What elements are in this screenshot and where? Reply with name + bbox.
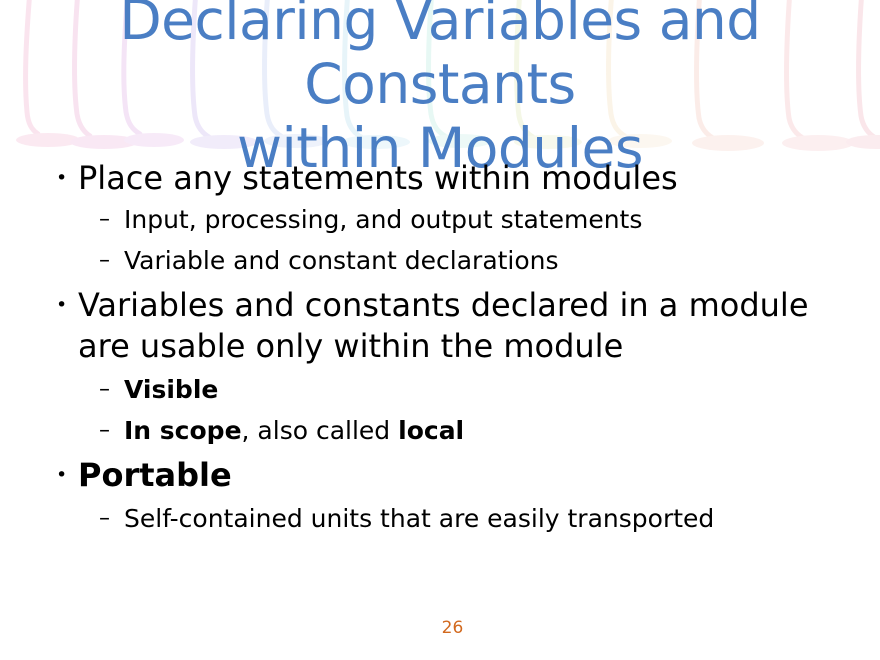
bullet-item: • Portable: [50, 455, 865, 496]
bullet-marker-dot: •: [50, 285, 78, 326]
bullet-text: Place any statements within modules: [78, 158, 865, 199]
sub-bullet-text: Visible: [124, 369, 865, 410]
slide: Declaring Variables and Constants within…: [0, 0, 880, 660]
bullet-marker-dot: •: [50, 455, 78, 496]
sub-bullet-text: Self-contained units that are easily tra…: [124, 498, 865, 539]
bullet-text: Variables and constants declared in a mo…: [78, 285, 865, 367]
title-line-1: Declaring Variables and: [0, 0, 880, 52]
bullet-marker-dot: •: [50, 158, 78, 199]
sub-bullet-item: – Self-contained units that are easily t…: [50, 498, 865, 539]
sub-bullet-item: – Visible: [50, 369, 865, 410]
sub-bullet-item: – Input, processing, and output statemen…: [50, 199, 865, 240]
sub-bullet-segment: In scope: [124, 416, 242, 445]
bullet-marker-dash: –: [50, 199, 124, 240]
bullet-marker-dash: –: [50, 498, 124, 539]
bullet-marker-dash: –: [50, 410, 124, 451]
bullet-item: • Place any statements within modules: [50, 158, 865, 199]
sub-bullet-segment: , also called: [242, 416, 399, 445]
bullet-marker-dash: –: [50, 240, 124, 281]
sub-bullet-text: Input, processing, and output statements: [124, 199, 865, 240]
page-number: 26: [0, 618, 880, 638]
slide-title: Declaring Variables and Constants within…: [0, 0, 880, 180]
bullet-marker-dash: –: [50, 369, 124, 410]
sub-bullet-text: In scope, also called local: [124, 410, 865, 451]
sub-bullet-item: – Variable and constant declarations: [50, 240, 865, 281]
slide-body: • Place any statements within modules – …: [50, 158, 865, 539]
bullet-item: • Variables and constants declared in a …: [50, 285, 865, 367]
title-line-2: Constants: [0, 52, 880, 116]
bullet-text: Portable: [78, 455, 865, 496]
sub-bullet-segment: local: [398, 416, 464, 445]
page-number-value: 26: [442, 618, 464, 638]
sub-bullet-text: Variable and constant declarations: [124, 240, 865, 281]
sub-bullet-item: – In scope, also called local: [50, 410, 865, 451]
